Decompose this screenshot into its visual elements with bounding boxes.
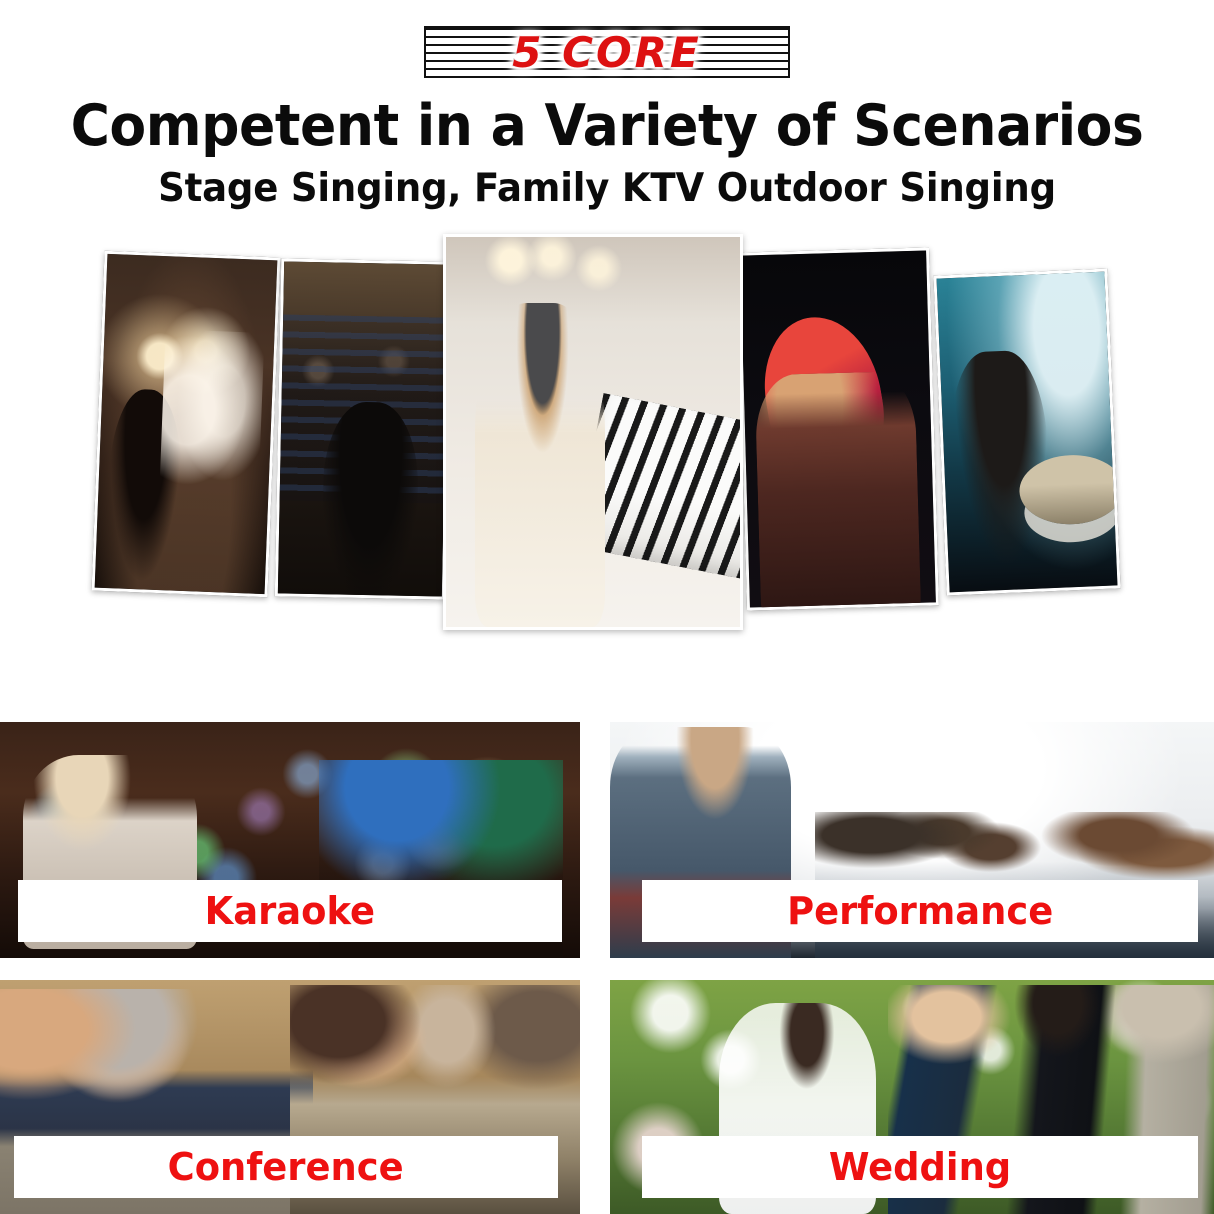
ballet-stage-scene bbox=[95, 254, 278, 594]
stage-singer-scene bbox=[740, 250, 936, 607]
photo-fan bbox=[0, 234, 1214, 644]
scenario-label-karaoke: Karaoke bbox=[205, 889, 375, 933]
logo-header: 5 CORE bbox=[0, 0, 1214, 78]
girl-piano-photo bbox=[443, 234, 743, 630]
scenario-grid: Karaoke Performance Conference Wedding bbox=[0, 722, 1214, 1214]
logo-wordmark: 5 CORE bbox=[424, 26, 790, 78]
scenario-label-bar-performance: Performance bbox=[642, 880, 1198, 942]
scenario-label-wedding: Wedding bbox=[829, 1145, 1011, 1189]
scenario-label-bar-conference: Conference bbox=[14, 1136, 558, 1198]
scenario-tile-wedding: Wedding bbox=[610, 980, 1214, 1214]
stage-singer-photo bbox=[737, 247, 939, 610]
drummer-photo bbox=[933, 268, 1120, 595]
drummer-scene bbox=[936, 272, 1117, 593]
scenario-tile-performance: Performance bbox=[610, 722, 1214, 958]
ballet-stage-photo bbox=[92, 251, 281, 598]
scenario-label-bar-karaoke: Karaoke bbox=[18, 880, 562, 942]
girl-piano-scene bbox=[446, 237, 740, 627]
page-title: Competent in a Variety of Scenarios bbox=[36, 98, 1177, 155]
auditorium-singer-scene bbox=[278, 261, 448, 596]
scenario-label-performance: Performance bbox=[787, 889, 1053, 933]
scenario-tile-karaoke: Karaoke bbox=[0, 722, 580, 958]
scenario-label-conference: Conference bbox=[168, 1145, 404, 1189]
scenario-tile-conference: Conference bbox=[0, 980, 580, 1214]
auditorium-singer-photo bbox=[275, 258, 451, 599]
scenario-label-bar-wedding: Wedding bbox=[642, 1136, 1198, 1198]
page-subtitle: Stage Singing, Family KTV Outdoor Singin… bbox=[30, 169, 1183, 208]
five-core-logo: 5 CORE bbox=[424, 26, 790, 78]
